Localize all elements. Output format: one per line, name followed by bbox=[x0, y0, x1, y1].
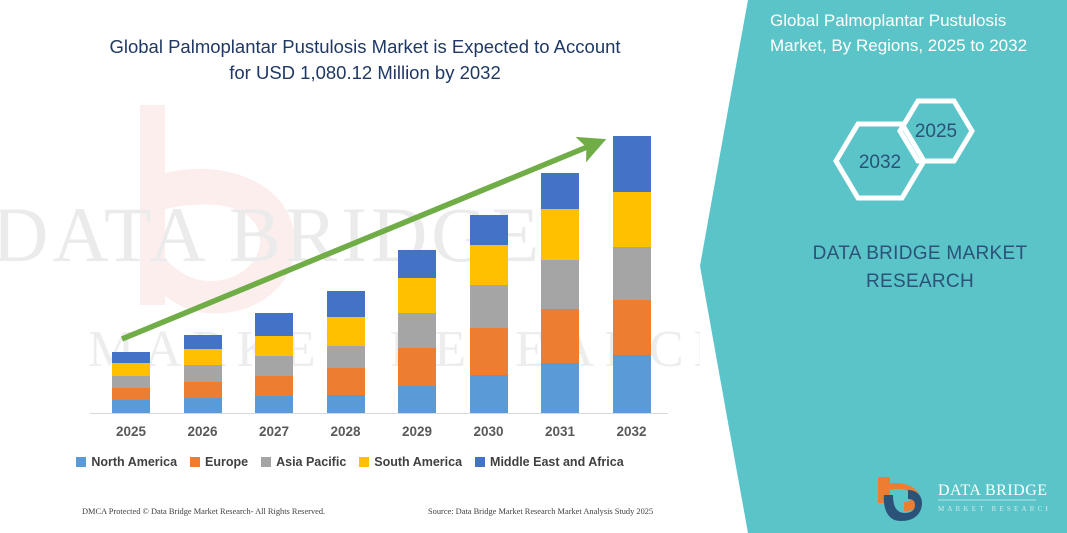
right-panel-brand: DATA BRIDGE MARKET RESEARCH bbox=[790, 240, 1050, 296]
legend-label: North America bbox=[91, 455, 177, 469]
bar-segment bbox=[184, 382, 222, 398]
chart-legend: North AmericaEuropeAsia PacificSouth Ame… bbox=[0, 455, 700, 469]
bar-2026 bbox=[184, 335, 222, 413]
bar-segment bbox=[112, 363, 150, 376]
legend-label: Middle East and Africa bbox=[490, 455, 624, 469]
bar-segment bbox=[255, 376, 293, 396]
legend-swatch-icon bbox=[359, 457, 369, 467]
legend-item[interactable]: Asia Pacific bbox=[261, 455, 346, 469]
bar-segment bbox=[327, 291, 365, 317]
right-panel-title: Global Palmoplantar Pustulosis Market, B… bbox=[770, 8, 1060, 58]
bar-segment bbox=[112, 388, 150, 400]
right-panel-brand-line-2: RESEARCH bbox=[790, 268, 1050, 296]
bar-2032 bbox=[613, 136, 651, 413]
logo-name-top: DATA BRIDGE bbox=[938, 482, 1048, 499]
hexagon-2025: 2025 bbox=[900, 101, 972, 161]
bar-segment bbox=[255, 336, 293, 356]
legend-label: South America bbox=[374, 455, 462, 469]
bar-2030 bbox=[470, 215, 508, 413]
right-panel-title-line-1: Global Palmoplantar Pustulosis bbox=[770, 8, 1060, 33]
data-bridge-logo: DATA BRIDGE MARKET RESEARCH bbox=[868, 473, 1048, 525]
right-panel-brand-line-1: DATA BRIDGE MARKET bbox=[790, 240, 1050, 268]
data-bridge-mark-icon bbox=[878, 477, 922, 521]
bar-segment bbox=[398, 348, 436, 386]
bar-segment bbox=[541, 260, 579, 309]
bar-segment bbox=[184, 398, 222, 413]
logo-name-bottom: MARKET RESEARCH bbox=[938, 505, 1048, 513]
svg-text:2025: 2025 bbox=[915, 121, 957, 142]
bar-segment bbox=[541, 209, 579, 260]
bar-2025 bbox=[112, 352, 150, 413]
right-panel-title-line-2: Market, By Regions, 2025 to 2032 bbox=[770, 33, 1060, 58]
x-axis-labels: 20252026202720282029203020312032 bbox=[0, 424, 700, 446]
bar-segment bbox=[398, 250, 436, 278]
legend-label: Asia Pacific bbox=[276, 455, 346, 469]
bar-segment bbox=[112, 352, 150, 363]
footer-copyright: DMCA Protected © Data Bridge Market Rese… bbox=[82, 507, 325, 516]
bar-segment bbox=[327, 317, 365, 346]
legend-item[interactable]: Europe bbox=[190, 455, 248, 469]
legend-item[interactable]: North America bbox=[76, 455, 177, 469]
bar-segment bbox=[327, 346, 365, 368]
x-axis-label-2025: 2025 bbox=[101, 424, 161, 439]
bar-segment bbox=[470, 375, 508, 413]
legend-swatch-icon bbox=[190, 457, 200, 467]
bar-segment bbox=[184, 349, 222, 365]
svg-text:2032: 2032 bbox=[859, 152, 901, 173]
bar-segment bbox=[470, 285, 508, 328]
bar-segment bbox=[184, 335, 222, 349]
bar-segment bbox=[327, 395, 365, 413]
hexagon-badges: 2032 2025 bbox=[820, 95, 1060, 225]
footer: DMCA Protected © Data Bridge Market Rese… bbox=[0, 507, 700, 527]
bar-segment bbox=[470, 215, 508, 245]
bar-segment bbox=[613, 192, 651, 247]
bar-2029 bbox=[398, 250, 436, 413]
bar-segment bbox=[398, 313, 436, 348]
x-axis-label-2031: 2031 bbox=[530, 424, 590, 439]
legend-swatch-icon bbox=[475, 457, 485, 467]
bar-segment bbox=[613, 247, 651, 300]
hexagon-2032: 2032 bbox=[836, 124, 924, 198]
bar-segment bbox=[613, 136, 651, 192]
bar-segment bbox=[541, 173, 579, 209]
bar-chart bbox=[0, 0, 700, 413]
bar-segment bbox=[398, 278, 436, 313]
bar-segment bbox=[255, 313, 293, 336]
x-axis-label-2027: 2027 bbox=[244, 424, 304, 439]
x-axis-line bbox=[90, 413, 668, 414]
bar-segment bbox=[255, 356, 293, 376]
bar-2028 bbox=[327, 291, 365, 413]
bar-segment bbox=[613, 355, 651, 413]
x-axis-label-2026: 2026 bbox=[173, 424, 233, 439]
x-axis-label-2030: 2030 bbox=[459, 424, 519, 439]
bar-2027 bbox=[255, 313, 293, 413]
bar-2031 bbox=[541, 173, 579, 413]
legend-swatch-icon bbox=[261, 457, 271, 467]
bar-segment bbox=[541, 309, 579, 363]
infographic-root: DATA BRIDGE MARKET RESEARCH Global Palmo… bbox=[0, 0, 1067, 533]
footer-source: Source: Data Bridge Market Research Mark… bbox=[428, 507, 653, 516]
bar-segment bbox=[470, 245, 508, 285]
bar-segment bbox=[541, 363, 579, 413]
bar-segment bbox=[184, 365, 222, 382]
x-axis-label-2029: 2029 bbox=[387, 424, 447, 439]
bar-segment bbox=[112, 376, 150, 388]
bar-segment bbox=[112, 400, 150, 413]
bar-segment bbox=[470, 328, 508, 375]
x-axis-label-2028: 2028 bbox=[316, 424, 376, 439]
legend-swatch-icon bbox=[76, 457, 86, 467]
bar-segment bbox=[613, 300, 651, 355]
legend-label: Europe bbox=[205, 455, 248, 469]
bar-segment bbox=[327, 368, 365, 395]
legend-item[interactable]: South America bbox=[359, 455, 462, 469]
bar-segment bbox=[398, 386, 436, 413]
bar-segment bbox=[255, 396, 293, 413]
x-axis-label-2032: 2032 bbox=[602, 424, 662, 439]
legend-item[interactable]: Middle East and Africa bbox=[475, 455, 624, 469]
